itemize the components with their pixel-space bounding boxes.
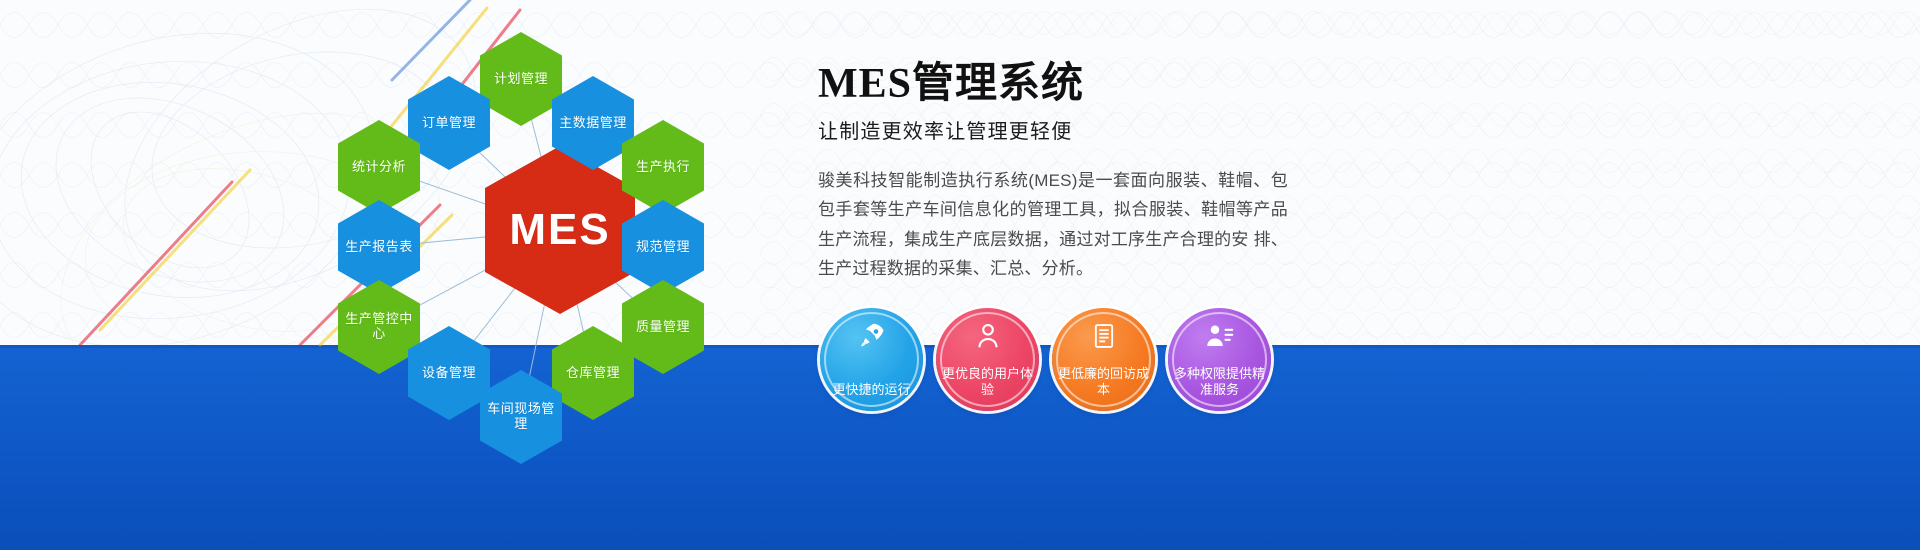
- hex-node-label-3: 统计分析: [348, 160, 410, 175]
- feature-badge-row: 更快捷的运行 更优良的用户体验 更低廉的回访成本: [820, 308, 1271, 411]
- hex-node-8[interactable]: 质量管理: [622, 280, 704, 374]
- feature-badge-label-1: 更优良的用户体验: [942, 366, 1034, 399]
- banner-title: MES管理系统: [818, 62, 1288, 106]
- feature-badge-label-3: 多种权限提供精准服务: [1174, 366, 1266, 399]
- hex-center-mes[interactable]: MES: [485, 146, 635, 314]
- hex-node-label-7: 生产管控中心: [338, 312, 420, 341]
- hex-node-5[interactable]: 生产报告表: [338, 200, 420, 294]
- hex-node-10[interactable]: 仓库管理: [552, 326, 634, 420]
- banner-subtitle: 让制造更效率让管理更轻便: [818, 115, 1288, 144]
- document-icon: [1087, 319, 1121, 353]
- hex-node-label-4: 生产执行: [632, 160, 694, 175]
- hex-node-label-2: 主数据管理: [555, 116, 631, 131]
- feature-badge-0[interactable]: 更快捷的运行: [820, 308, 923, 411]
- hex-node-label-0: 计划管理: [490, 72, 552, 87]
- rocket-icon: [855, 319, 889, 353]
- hex-node-1[interactable]: 订单管理: [408, 76, 490, 170]
- feature-badge-2[interactable]: 更低廉的回访成本: [1052, 308, 1155, 411]
- hex-node-7[interactable]: 生产管控中心: [338, 280, 420, 374]
- hex-node-3[interactable]: 统计分析: [338, 120, 420, 214]
- hex-node-label-8: 质量管理: [632, 320, 694, 335]
- feature-badge-label-2: 更低廉的回访成本: [1058, 366, 1150, 399]
- feature-badge-3[interactable]: 多种权限提供精准服务: [1168, 308, 1271, 411]
- banner-paragraph: 骏美科技智能制造执行系统(MES)是一套面向服装、鞋帽、包包手套等生产车间信息化…: [818, 166, 1288, 283]
- permissions-icon: [1203, 319, 1237, 353]
- feature-badge-1[interactable]: 更优良的用户体验: [936, 308, 1039, 411]
- banner-stage: MES 计划管理 订单管理 主数据管理 统计分析 生产执行 生产报告表 规范管理…: [0, 0, 1920, 550]
- user-icon: [971, 319, 1005, 353]
- hex-node-label-9: 设备管理: [418, 366, 480, 381]
- hex-node-label-10: 仓库管理: [562, 366, 624, 381]
- hex-center-label: MES: [505, 205, 614, 254]
- hex-node-label-1: 订单管理: [418, 116, 480, 131]
- feature-badge-label-0: 更快捷的运行: [826, 382, 918, 398]
- hex-node-0[interactable]: 计划管理: [480, 32, 562, 126]
- mes-hex-diagram: MES 计划管理 订单管理 主数据管理 统计分析 生产执行 生产报告表 规范管理…: [330, 20, 790, 440]
- hex-node-label-11: 车间现场管理: [480, 402, 562, 431]
- hex-node-label-6: 规范管理: [632, 240, 694, 255]
- hex-node-9[interactable]: 设备管理: [408, 326, 490, 420]
- banner-text-block: MES管理系统 让制造更效率让管理更轻便 骏美科技智能制造执行系统(MES)是一…: [818, 62, 1288, 283]
- hex-node-label-5: 生产报告表: [341, 240, 417, 255]
